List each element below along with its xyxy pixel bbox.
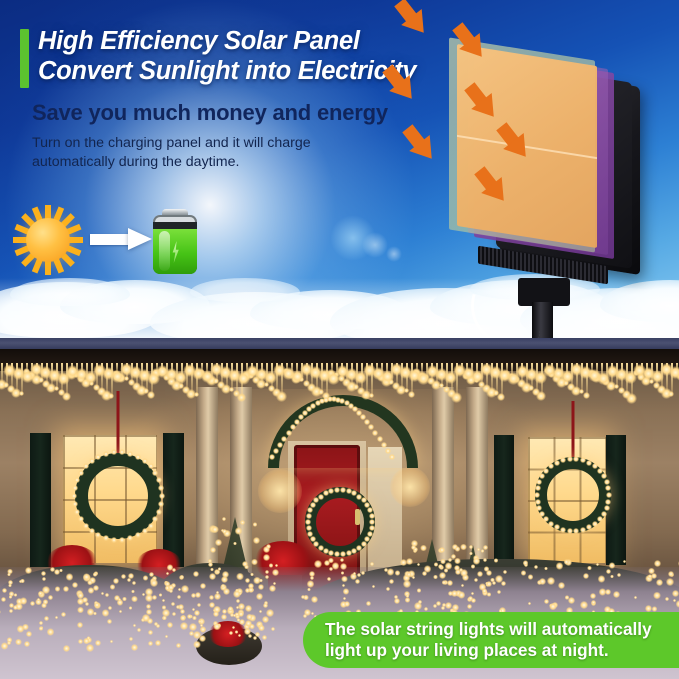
solar-charging-feature-panel: High Efficiency Solar Panel Convert Sunl… [0,0,679,340]
caption-text: The solar string lights will automatical… [325,619,652,661]
caption-banner: The solar string lights will automatical… [303,612,679,668]
green-accent-bar [20,29,29,88]
caption-line-1: The solar string lights will automatical… [325,619,652,640]
product-feature-poster: High Efficiency Solar Panel Convert Sunl… [0,0,679,679]
caption-line-2: light up your living places at night. [325,640,652,661]
subheading: Save you much money and energy [32,100,490,126]
porch-sconce-light [258,469,302,513]
panel-divider [0,338,679,349]
left-window-shutter [30,433,51,567]
left-window-shutter-right [163,433,184,567]
right-arrow-icon [90,228,152,250]
porch-sconce-light [390,467,430,507]
sun-icon [14,206,82,274]
headline-line-2: Convert Sunlight into Electricity [38,56,490,86]
right-window-shutter [494,435,514,565]
battery-charged-icon [151,209,199,274]
solar-panel-illustration [440,28,679,338]
